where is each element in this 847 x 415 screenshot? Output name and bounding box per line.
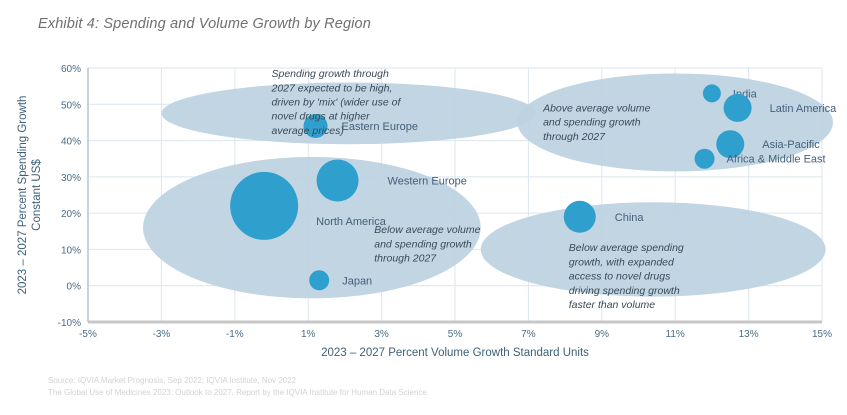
bubble-label-eastern-europe: Eastern Europe xyxy=(342,121,418,133)
svg-text:Constant US$: Constant US$ xyxy=(31,159,43,231)
below-average-note-line-3: through 2027 xyxy=(374,253,437,265)
bubble-north-america[interactable] xyxy=(230,172,298,240)
mix-note-line-2: 2027 expected to be high, xyxy=(271,82,393,94)
chart-canvas: Eastern EuropeWestern EuropeNorth Americ… xyxy=(0,0,847,370)
bubble-label-japan: Japan xyxy=(342,275,372,287)
bubble-latin-america[interactable] xyxy=(724,94,752,122)
x-tick-label: -5% xyxy=(79,329,97,340)
below-average-note-line-2: and spending growth xyxy=(374,238,472,250)
bubble-india[interactable] xyxy=(703,84,721,102)
y-tick-label: 30% xyxy=(61,173,81,184)
y-axis-title: 2023 – 2027 Percent Spending GrowthConst… xyxy=(17,96,43,295)
below-average-note-line-1: Below average volume xyxy=(374,224,480,236)
below-spending-note-line-5: faster than volume xyxy=(569,299,656,311)
above-average-note-line-2: and spending growth xyxy=(543,117,641,129)
source-line-1: Source: IQVIA Market Prognosis, Sep 2022… xyxy=(48,375,429,387)
bubble-chart: Eastern EuropeWestern EuropeNorth Americ… xyxy=(0,0,847,370)
bubble-label-africa-middle-east: Africa & Middle East xyxy=(727,154,826,166)
x-tick-label: 7% xyxy=(521,329,536,340)
below-spending-note-line-1: Below average spending xyxy=(569,242,684,254)
bubble-label-latin-america: Latin America xyxy=(770,103,838,115)
y-tick-label: 0% xyxy=(67,282,82,293)
above-average-note-line-1: Above average volume xyxy=(542,103,651,115)
mix-note-line-5: average prices) xyxy=(272,125,344,137)
mix-note-line-3: driven by 'mix' (wider use of xyxy=(272,96,402,108)
below-spending-note-line-4: driving spending growth xyxy=(569,285,680,297)
y-tick-label: 40% xyxy=(61,137,81,148)
y-tick-label: 50% xyxy=(61,100,81,111)
x-tick-label: 1% xyxy=(301,329,316,340)
source-line-2: The Global Use of Medicines 2023: Outloo… xyxy=(48,387,429,399)
x-axis-title: 2023 – 2027 Percent Volume Growth Standa… xyxy=(321,347,589,359)
bubble-japan[interactable] xyxy=(309,270,329,290)
below-spending-note-line-3: access to novel drugs xyxy=(569,271,671,283)
x-tick-label: 13% xyxy=(739,329,759,340)
y-tick-label: 20% xyxy=(61,209,81,220)
y-tick-label: -10% xyxy=(58,318,81,329)
source-footnote: Source: IQVIA Market Prognosis, Sep 2022… xyxy=(48,375,429,398)
bubble-western-europe[interactable] xyxy=(317,159,359,201)
y-tick-label: 10% xyxy=(61,245,81,256)
below-spending-note-line-2: growth, with expanded xyxy=(569,256,675,268)
x-tick-label: 11% xyxy=(666,329,685,340)
x-tick-label: -1% xyxy=(226,329,244,340)
mix-note-line-4: novel drugs at higher xyxy=(272,111,371,123)
bubble-label-western-europe: Western Europe xyxy=(388,175,467,187)
bubble-africa-middle-east[interactable] xyxy=(695,149,715,169)
bubble-china[interactable] xyxy=(564,201,596,233)
y-tick-label: 60% xyxy=(61,64,81,75)
x-tick-label: 15% xyxy=(812,329,832,340)
bubble-label-china: China xyxy=(615,212,645,224)
x-tick-label: 5% xyxy=(448,329,463,340)
svg-text:2023 – 2027 Percent Spending G: 2023 – 2027 Percent Spending Growth xyxy=(17,96,29,295)
mix-note-line-1: Spending growth through xyxy=(272,68,389,80)
bubble-label-asia-pacific: Asia-Pacific xyxy=(762,139,820,151)
x-tick-label: 9% xyxy=(595,329,610,340)
x-tick-label: -3% xyxy=(153,329,171,340)
x-tick-label: 3% xyxy=(374,329,389,340)
above-average-note-line-3: through 2027 xyxy=(543,131,606,143)
